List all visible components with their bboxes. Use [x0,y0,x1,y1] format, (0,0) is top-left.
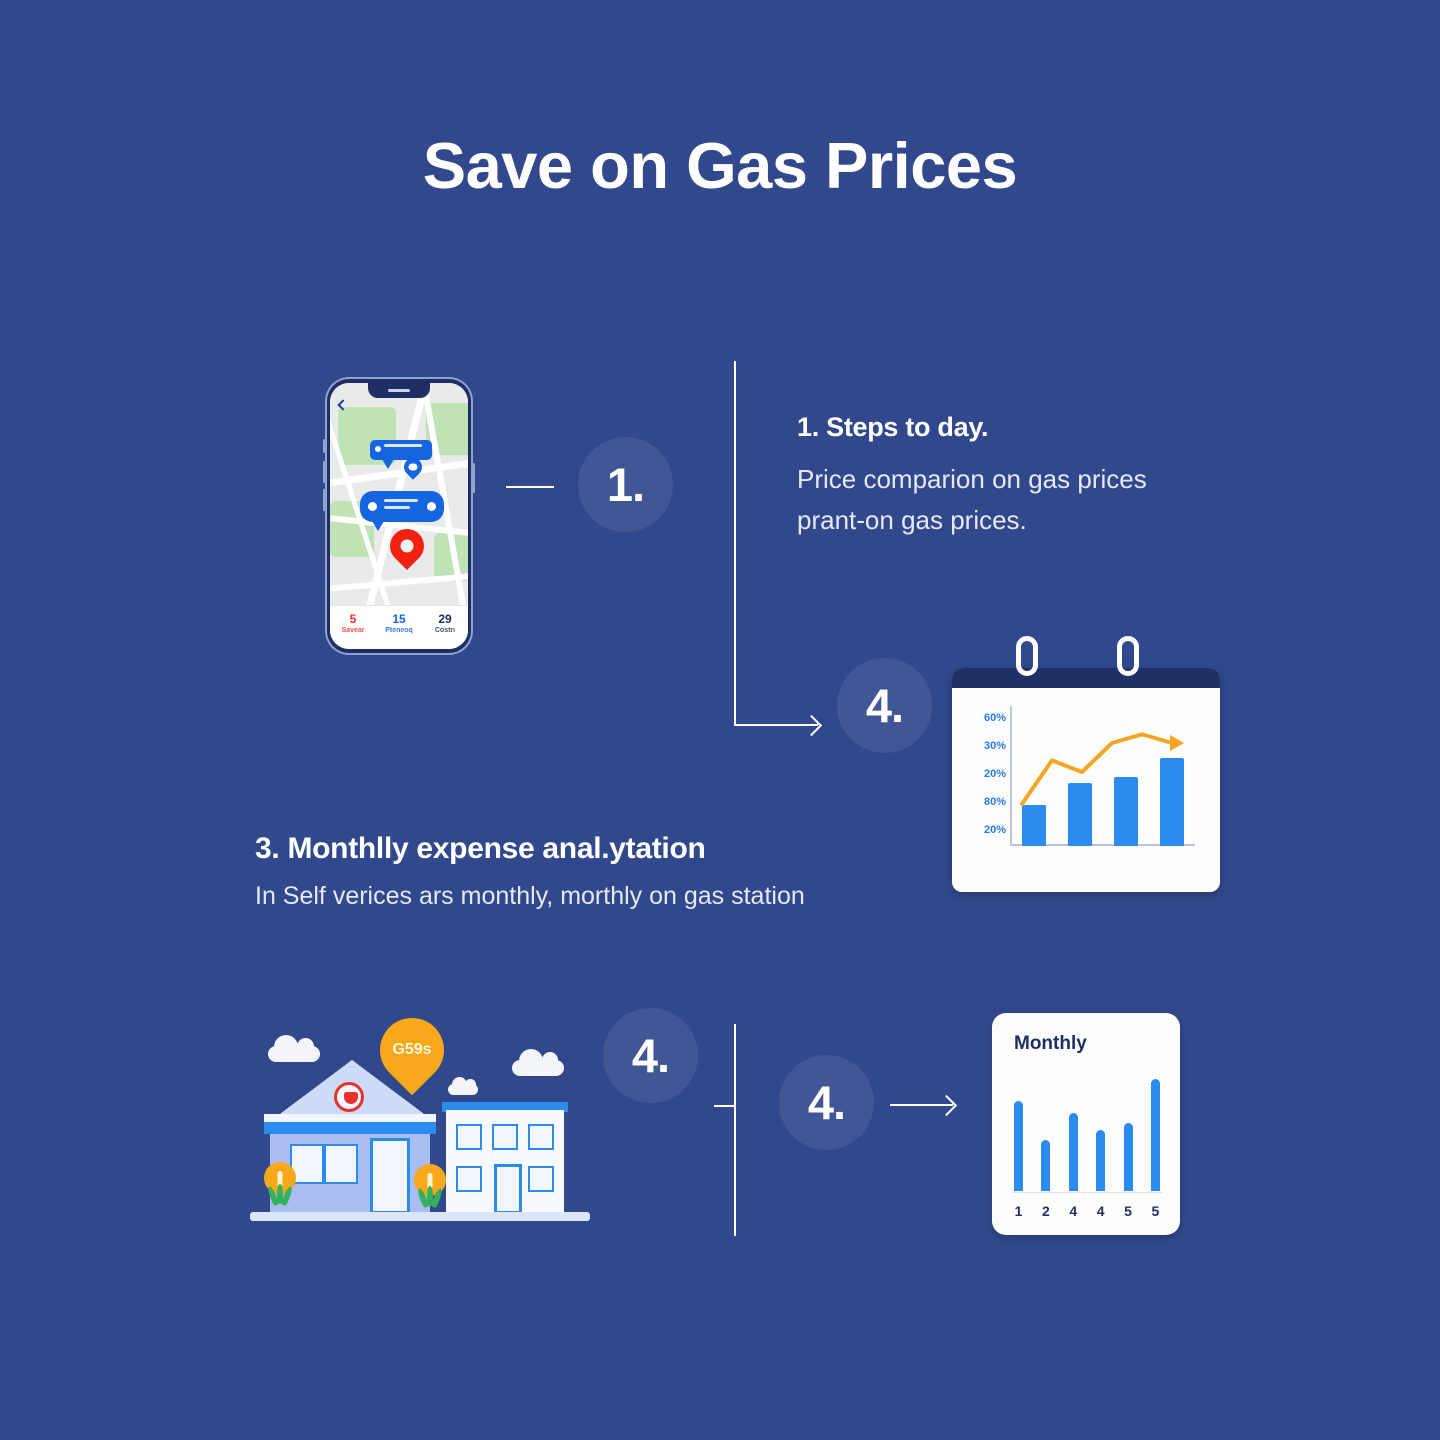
y-tick-label: 30% [960,732,1006,760]
monthly-bar [1151,1079,1160,1191]
side-window [528,1166,554,1192]
monthly-bar [1041,1140,1050,1191]
monthly-bar-label: 1 [1014,1203,1023,1219]
monthly-bar [1096,1130,1105,1191]
phone-stat-value: 5 [330,612,376,626]
monthly-axis-line [1012,1192,1162,1193]
connector-tick-bottom [714,1105,736,1107]
phone-stat-value: 29 [422,612,468,626]
callout-dot-icon [427,502,436,511]
monthly-bar-label: 2 [1041,1203,1050,1219]
monthly-card-title: Monthly [1014,1033,1087,1055]
gas-price-label: G59s [392,1041,431,1059]
cloud-icon [448,1084,478,1095]
monthly-bar-group [1014,1073,1160,1191]
map-callout-card[interactable] [360,491,444,522]
plant-icon [268,1186,294,1208]
calendar-chart-card: 60% 30% 20% 80% 20% [952,668,1220,892]
monthly-bar-label: 5 [1151,1203,1160,1219]
callout-text-line [384,499,418,502]
callout-dot-icon [368,502,377,511]
phone-volume-down-button [323,489,326,511]
connector-vertical-bottom [734,1024,736,1236]
step-badge-calendar: 4. [837,658,932,753]
monthly-bar-label: 5 [1124,1203,1133,1219]
step-badge-monthly: 4. [779,1055,874,1150]
step-1-heading: 1. Steps to day. [797,412,988,443]
map-callout-card[interactable] [370,440,432,460]
step-3-body: In Self verices ars monthly, morthly on … [255,878,875,914]
station-door-glass [376,1144,404,1174]
calendar-ring-icon [1016,636,1038,676]
y-tick-label: 60% [960,704,1006,732]
station-canopy [264,1122,436,1134]
phone-mute-button [323,439,326,453]
connector-vertical-step1 [734,361,736,726]
y-tick-label: 20% [960,760,1006,788]
station-logo-icon [334,1082,364,1112]
side-window [492,1124,518,1150]
phone-stat-item[interactable]: 29 Costri [422,606,468,649]
station-ground [250,1212,590,1221]
phone-stat-label: Pteneoq [376,626,422,636]
infographic-canvas: Save on Gas Prices 1. 4. 4. 4. 1. Steps … [0,0,1440,1440]
plant-icon [418,1188,444,1210]
y-tick-label: 20% [960,816,1006,844]
side-window [456,1166,482,1192]
monthly-chart-card: Monthly 124455 [992,1013,1180,1235]
monthly-bar-label: 4 [1069,1203,1078,1219]
callout-text-line [384,444,422,447]
phone-notch [368,383,430,398]
phone-volume-up-button [323,461,326,483]
phone-stat-item[interactable]: 5 Savear [330,606,376,649]
monthly-axis-labels: 124455 [1014,1203,1160,1219]
step-3-heading: 3. Monthlly expense anal.ytation [255,832,706,866]
y-tick-label: 80% [960,788,1006,816]
step-badge-station: 4. [603,1008,698,1103]
connector-arrow-to-calendar [736,724,818,726]
calendar-body: 60% 30% 20% 80% 20% [952,668,1220,892]
monthly-bar [1014,1101,1023,1191]
step-badge-1: 1. [578,437,673,532]
trend-line-chart [1010,706,1200,851]
phone-stat-label: Savear [330,626,376,636]
phone-stat-label: Costri [422,626,468,636]
monthly-bar [1069,1113,1078,1191]
phone-power-button [472,463,475,493]
side-door [494,1164,522,1214]
page-title: Save on Gas Prices [0,128,1440,203]
gas-station-illustration: G59s [250,1014,590,1256]
station-window [324,1144,358,1184]
map-road [330,573,468,592]
phone-stat-value: 15 [376,612,422,626]
calendar-rings [952,650,1220,674]
phone-stat-item[interactable]: 15 Pteneoq [376,606,422,649]
connector-arrow-to-monthly [890,1104,953,1106]
y-axis-ticks: 60% 30% 20% 80% 20% [960,704,1006,844]
calendar-chart-area: 60% 30% 20% 80% 20% [952,688,1220,892]
connector-dash-phone [506,486,554,488]
side-window [456,1124,482,1150]
side-window [528,1124,554,1150]
callout-text-line [384,506,410,509]
step-1-body: Price comparion on gas prices prant-on g… [797,459,1217,541]
phone-mockup: 5 Savear 15 Pteneoq 29 Costri [325,377,473,655]
phone-stats-bar: 5 Savear 15 Pteneoq 29 Costri [330,605,468,649]
calendar-ring-icon [1117,636,1139,676]
callout-dot-icon [375,446,381,452]
phone-screen: 5 Savear 15 Pteneoq 29 Costri [330,383,468,649]
monthly-bar [1124,1123,1133,1191]
monthly-bar-label: 4 [1096,1203,1105,1219]
cloud-icon [512,1060,564,1076]
